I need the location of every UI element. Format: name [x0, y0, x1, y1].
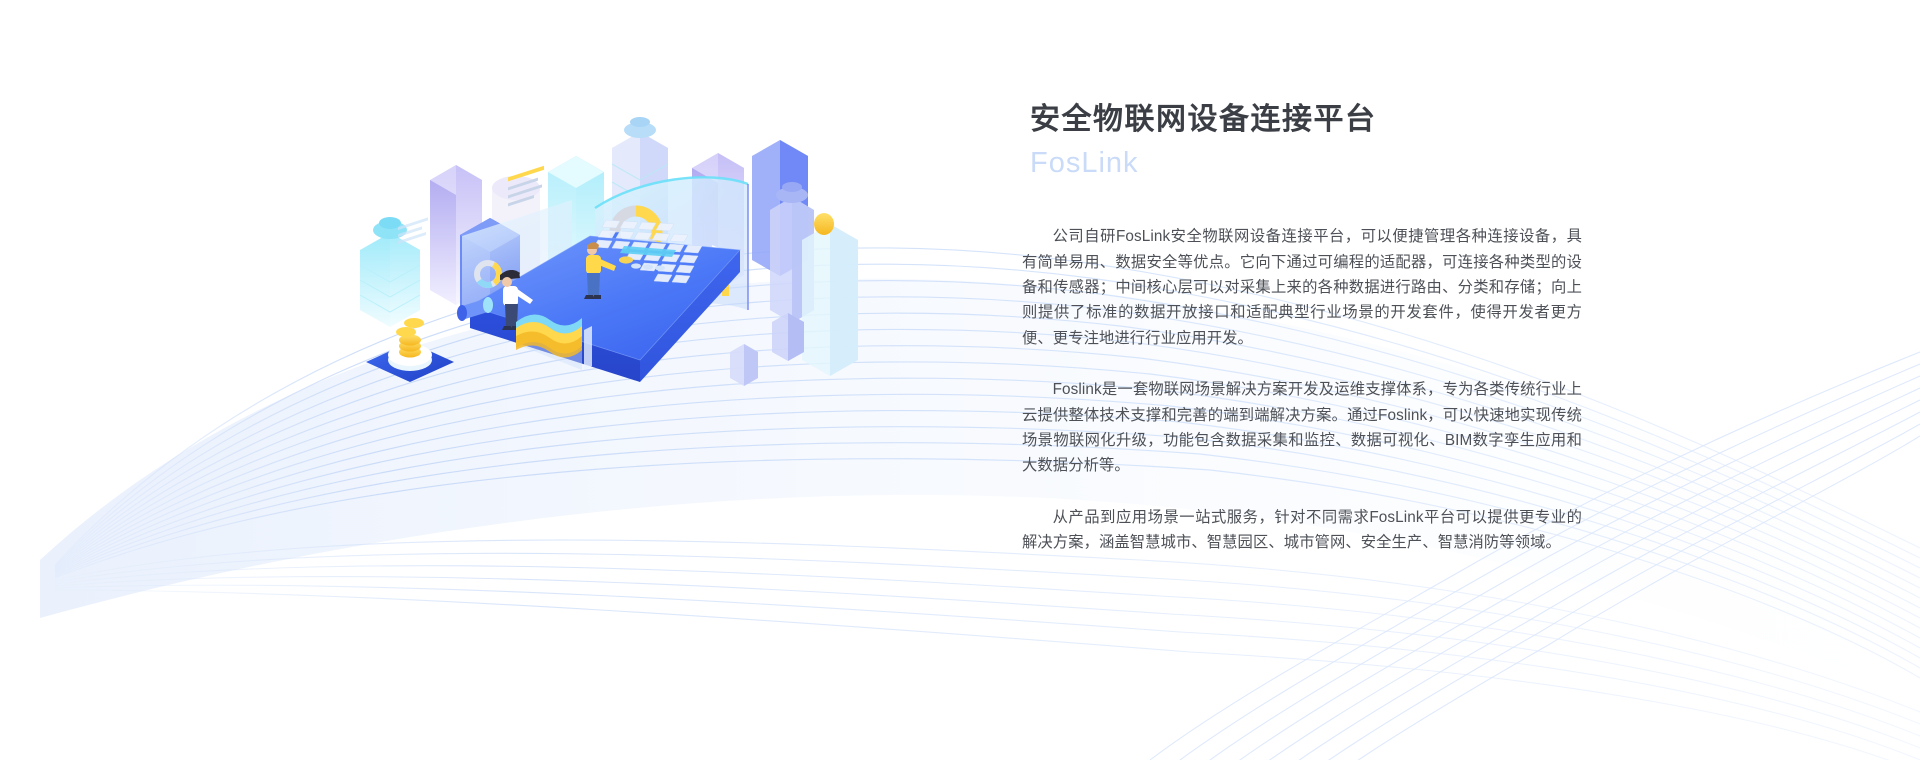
gold-coins: [396, 318, 424, 358]
floating-coin: [814, 213, 834, 235]
page-subtitle: FosLink: [1030, 145, 1602, 183]
paragraph-2: Foslink是一套物联网场景解决方案开发及运维支撑体系，专为各类传统行业上云提…: [1022, 377, 1582, 479]
title-block: 安全物联网设备连接平台 FosLink: [1030, 100, 1602, 182]
area-chart-platform: [516, 314, 592, 370]
page-title: 安全物联网设备连接平台: [1030, 100, 1602, 141]
isometric-iot-platform-illustration: [340, 60, 860, 400]
paragraph-1: 公司自研FosLink安全物联网设备连接平台，可以便捷管理各种连接设备，具有简单…: [1022, 224, 1582, 351]
background-wave-decoration: [0, 0, 1920, 760]
hero-section: 安全物联网设备连接平台 FosLink 公司自研FosLink安全物联网设备连接…: [0, 0, 1920, 760]
hero-text-column: 安全物联网设备连接平台 FosLink 公司自研FosLink安全物联网设备连接…: [1022, 100, 1602, 556]
description-paragraphs: 公司自研FosLink安全物联网设备连接平台，可以便捷管理各种连接设备，具有简单…: [1022, 224, 1582, 555]
coins-pedestal: [366, 318, 454, 382]
paragraph-3: 从产品到应用场景一站式服务，针对不同需求FosLink平台可以提供更专业的解决方…: [1022, 505, 1582, 556]
